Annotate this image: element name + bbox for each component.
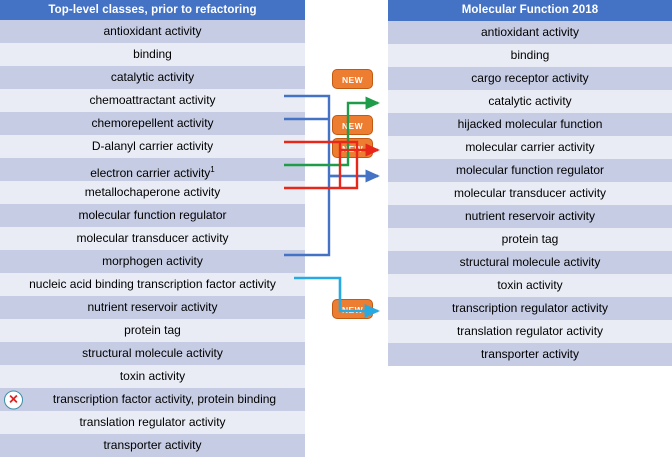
list-item[interactable]: molecular function regulator (388, 159, 672, 182)
list-item-label: protein tag (502, 228, 559, 251)
list-item-label: protein tag (124, 319, 181, 342)
list-item-label: cargo receptor activity (471, 67, 588, 90)
left-column: Top-level classes, prior to refactoring … (0, 0, 305, 457)
deprecated-x-icon: ✕ (4, 390, 23, 409)
right-column-rows: antioxidant activitybindingNEWcargo rece… (388, 21, 672, 366)
list-item[interactable]: NEWhijacked molecular function (388, 113, 672, 136)
list-item[interactable]: chemoattractant activity (0, 89, 305, 112)
list-item[interactable]: protein tag (0, 319, 305, 342)
list-item[interactable]: nucleic acid binding transcription facto… (0, 273, 305, 296)
list-item-label: nutrient reservoir activity (87, 296, 217, 319)
list-item[interactable]: catalytic activity (388, 90, 672, 113)
list-item[interactable]: NEWcargo receptor activity (388, 67, 672, 90)
list-item-label: molecular transducer activity (76, 227, 228, 250)
list-item[interactable]: nutrient reservoir activity (388, 205, 672, 228)
left-column-header: Top-level classes, prior to refactoring (0, 0, 305, 20)
list-item[interactable]: nutrient reservoir activity (0, 296, 305, 319)
list-item-label: morphogen activity (102, 250, 203, 273)
list-item[interactable]: molecular function regulator (0, 204, 305, 227)
new-badge: NEW (332, 115, 373, 135)
list-item[interactable]: translation regulator activity (388, 320, 672, 343)
list-item[interactable]: electron carrier activity1 (0, 158, 305, 181)
new-badge: NEW (332, 138, 373, 158)
list-item-label: translation regulator activity (457, 320, 603, 343)
list-item-label: catalytic activity (111, 66, 194, 89)
list-item[interactable]: antioxidant activity (388, 21, 672, 44)
diagram-canvas: Top-level classes, prior to refactoring … (0, 0, 672, 442)
list-item[interactable]: NEWmolecular carrier activity (388, 136, 672, 159)
list-item[interactable]: D-alanyl carrier activity (0, 135, 305, 158)
list-item-label: structural molecule activity (82, 342, 223, 365)
list-item-label: toxin activity (120, 365, 185, 388)
right-column: Molecular Function 2018 antioxidant acti… (388, 0, 672, 366)
list-item-label: molecular carrier activity (465, 136, 594, 159)
list-item[interactable]: transporter activity (0, 434, 305, 457)
list-item-label: nutrient reservoir activity (465, 205, 595, 228)
list-item-label: chemorepellent activity (91, 112, 213, 135)
list-item[interactable]: structural molecule activity (388, 251, 672, 274)
footnote-marker: 1 (210, 165, 214, 174)
list-item-label: catalytic activity (488, 90, 571, 113)
new-badge: NEW (332, 69, 373, 89)
list-item-label: hijacked molecular function (458, 113, 603, 136)
new-badge: NEW (332, 299, 373, 319)
list-item-label: binding (133, 43, 172, 66)
list-item[interactable]: NEWtranscription regulator activity (388, 297, 672, 320)
list-item-label: molecular function regulator (78, 204, 226, 227)
list-item-label: transcription regulator activity (452, 297, 608, 320)
list-item[interactable]: translation regulator activity (0, 411, 305, 434)
list-item[interactable]: binding (388, 44, 672, 67)
list-item-label: binding (511, 44, 550, 67)
list-item[interactable]: metallochaperone activity (0, 181, 305, 204)
list-item[interactable]: chemorepellent activity (0, 112, 305, 135)
list-item-label: toxin activity (497, 274, 562, 297)
list-item[interactable]: toxin activity (0, 365, 305, 388)
list-item-label: translation regulator activity (79, 411, 225, 434)
list-item-label: nucleic acid binding transcription facto… (29, 273, 276, 296)
list-item[interactable]: antioxidant activity (0, 20, 305, 43)
list-item-label: transcription factor activity, protein b… (53, 388, 276, 411)
list-item-label: D-alanyl carrier activity (92, 135, 213, 158)
right-column-header: Molecular Function 2018 (388, 0, 672, 21)
left-column-rows: antioxidant activitybindingcatalytic act… (0, 20, 305, 457)
list-item-label: antioxidant activity (481, 21, 579, 44)
list-item[interactable]: molecular transducer activity (0, 227, 305, 250)
list-item-label: chemoattractant activity (89, 89, 215, 112)
list-item[interactable]: morphogen activity (0, 250, 305, 273)
list-item-label: molecular transducer activity (454, 182, 606, 205)
list-item[interactable]: binding (0, 43, 305, 66)
list-item[interactable]: catalytic activity (0, 66, 305, 89)
list-item-label: metallochaperone activity (85, 181, 220, 204)
list-item[interactable]: ✕transcription factor activity, protein … (0, 388, 305, 411)
list-item-label: antioxidant activity (103, 20, 201, 43)
list-item[interactable]: toxin activity (388, 274, 672, 297)
list-item-label: transporter activity (481, 343, 579, 366)
list-item[interactable]: molecular transducer activity (388, 182, 672, 205)
list-item[interactable]: structural molecule activity (0, 342, 305, 365)
list-item[interactable]: transporter activity (388, 343, 672, 366)
list-item[interactable]: protein tag (388, 228, 672, 251)
list-item-label: transporter activity (103, 434, 201, 457)
list-item-label: structural molecule activity (460, 251, 601, 274)
list-item-label: molecular function regulator (456, 159, 604, 182)
